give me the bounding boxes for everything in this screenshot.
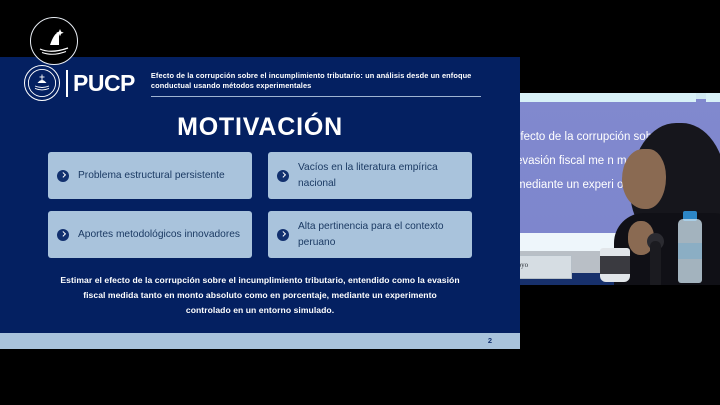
motivation-card-label: Problema estructural persistente [78,168,225,184]
screen-share-view: PUCP Efecto de la corrupción sobre el in… [0,0,720,405]
projected-text-line: evasión fiscal me n m [520,155,627,167]
coffee-cup-band [600,256,630,274]
pucp-watermark-logo-icon [30,17,78,65]
pucp-ship-seal-icon [24,65,60,101]
slide-footer-bar: 2 [0,333,520,349]
chevron-right-circle-icon [277,170,289,182]
motivation-card[interactable]: Vacíos en la literatura empírica naciona… [268,152,472,199]
motivation-card-label: Alta pertinencia para el contexto peruan… [298,219,462,251]
slide-header-title: Efecto de la corrupción sobre el incumpl… [151,71,481,92]
chevron-right-circle-icon [57,229,69,241]
presenter-video-feed[interactable]: efecto de la corrupción sobre el i evasi… [520,0,720,405]
pucp-wordmark: PUCP [73,72,135,95]
motivation-cards-grid: Problema estructural persistente Vacíos … [48,152,472,258]
logo-divider [66,70,68,97]
motivation-card[interactable]: Problema estructural persistente [48,152,252,199]
header-underline [151,96,481,97]
motivation-card[interactable]: Alta pertinencia para el contexto peruan… [268,211,472,258]
slide-title: MOTIVACIÓN [0,113,520,142]
microphone [650,241,661,285]
header-title-block: Efecto de la corrupción sobre el incumpl… [151,69,508,98]
video-frame: efecto de la corrupción sobre el i evasi… [520,93,720,285]
slide-summary-text: Estimar el efecto de la corrupción sobre… [60,273,460,317]
motivation-card-label: Vacíos en la literatura empírica naciona… [298,160,462,192]
presenter-face [622,149,666,209]
slide-header: PUCP Efecto de la corrupción sobre el in… [0,57,520,109]
name-card: rroyo ia [520,255,572,279]
pucp-logo-lockup: PUCP [24,65,135,101]
chevron-right-circle-icon [277,229,289,241]
presentation-slide[interactable]: PUCP Efecto de la corrupción sobre el in… [0,57,520,349]
water-bottle-label [678,243,702,259]
name-card-text: rroyo [520,261,528,269]
motivation-card[interactable]: Aportes metodológicos innovadores [48,211,252,258]
chevron-right-circle-icon [57,170,69,182]
slide-page-number: 2 [488,336,492,345]
motivation-card-label: Aportes metodológicos innovadores [78,227,240,243]
